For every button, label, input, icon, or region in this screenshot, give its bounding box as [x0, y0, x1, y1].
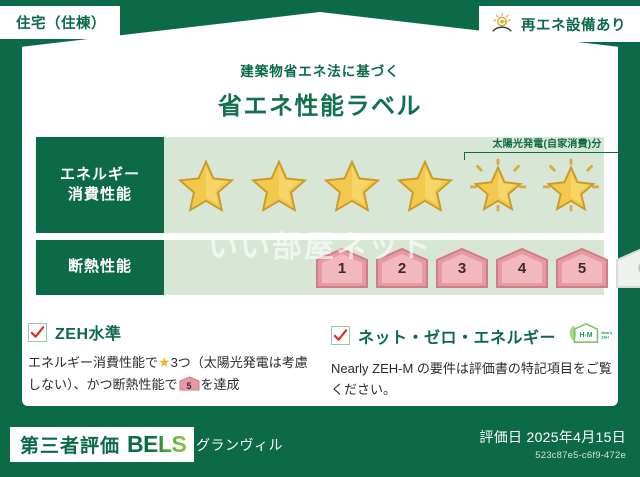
criterion-zeh-standard: ZEH水準 エネルギー消費性能で★3つ（太陽光発電は考慮しない）、かつ断熱性能で…	[28, 320, 309, 400]
star-icon-sparkle	[543, 158, 599, 212]
insulation-grade-4: 4	[494, 247, 550, 289]
evaluation-id: 523c87e5-c6f9-472e	[479, 450, 626, 461]
inline-star-icon: ★	[158, 354, 171, 370]
insulation-grades-panel: 1 2 3	[164, 240, 604, 295]
renewable-energy-badge: 再エネ設備あり	[479, 6, 640, 42]
star-6-solar	[537, 158, 604, 212]
star-1	[172, 158, 239, 212]
bels-wordmark: BELS	[127, 431, 186, 458]
insulation-grade-6: 6	[614, 247, 640, 289]
performance-table: エネルギー 消費性能 太陽光発電(自家消費)分	[36, 137, 604, 295]
criterion-net-zero-energy: ネット・ゼロ・エネルギー H-M Nearly ZEH Nearly ZEH-M…	[331, 320, 612, 400]
energy-label-line1: エネルギー	[60, 165, 140, 185]
star-icon	[324, 158, 380, 212]
star-icon-sparkle	[470, 158, 526, 212]
checkbox-net-zero-energy[interactable]	[331, 326, 350, 345]
evaluation-date: 評価日 2025年4月15日	[479, 427, 626, 447]
criterion-zeh-title: ZEH水準	[55, 320, 122, 344]
solar-annotation-bracket	[464, 152, 630, 160]
criterion-nze-description: Nearly ZEH-M の要件は評価書の特記項目をご覧ください。	[331, 358, 612, 400]
star-4	[391, 158, 458, 212]
zeh-m-logo: H-M Nearly ZEH	[564, 320, 612, 351]
property-name: グランヴィル	[196, 435, 283, 455]
evaluation-info: 評価日 2025年4月15日 523c87e5-c6f9-472e	[479, 427, 626, 461]
criterion-nze-title: ネット・ゼロ・エネルギー	[358, 324, 556, 348]
inline-grade-value: 5	[179, 379, 200, 394]
insulation-grade-list: 1 2 3	[164, 240, 604, 295]
svg-text:ZEH: ZEH	[601, 335, 609, 339]
insulation-performance-label: 断熱性能	[36, 240, 164, 295]
star-icon	[178, 158, 234, 212]
bels-badge: 第三者評価 BELS	[10, 427, 194, 462]
insulation-grade-1: 1	[314, 247, 370, 289]
insulation-grade-4-value: 4	[494, 260, 550, 277]
criterion-zeh-header: ZEH水準	[28, 320, 309, 344]
insulation-grade-6-value: 6	[614, 260, 640, 277]
star-3	[318, 158, 385, 212]
zeh-m-logo-svg: H-M Nearly ZEH	[566, 320, 612, 346]
insulation-grade-5-value: 5	[554, 260, 610, 277]
solar-annotation: 太陽光発電(自家消費)分	[452, 135, 640, 160]
energy-performance-label: エネルギー 消費性能	[36, 137, 164, 233]
energy-performance-label: 住宅（住棟） 再エネ設備あり 建築物省エネ法に基づく 省エネ性能ラベル いい部屋…	[0, 0, 640, 477]
sun-icon-svg	[489, 11, 515, 37]
energy-performance-row: エネルギー 消費性能 太陽光発電(自家消費)分	[36, 137, 604, 233]
check-icon	[333, 328, 348, 343]
criterion-nze-header: ネット・ゼロ・エネルギー H-M Nearly ZEH	[331, 320, 612, 351]
energy-label-line2: 消費性能	[68, 185, 132, 205]
insulation-grade-3: 3	[434, 247, 490, 289]
label-subtitle: 建築物省エネ法に基づく	[0, 60, 640, 80]
inline-grade-badge: 5	[179, 376, 200, 391]
solar-annotation-label: 太陽光発電(自家消費)分	[452, 135, 640, 150]
insulation-performance-row: 断熱性能 1 2	[36, 240, 604, 295]
insulation-grade-5: 5	[554, 247, 610, 289]
criteria-section: ZEH水準 エネルギー消費性能で★3つ（太陽光発電は考慮しない）、かつ断熱性能で…	[28, 320, 612, 400]
label-heading: 建築物省エネ法に基づく 省エネ性能ラベル	[0, 60, 640, 121]
criterion-zeh-text-part1: エネルギー消費性能で	[28, 355, 158, 370]
label-footer: 第三者評価 BELS グランヴィル 評価日 2025年4月15日 523c87e…	[0, 415, 640, 477]
energy-stars-panel: 太陽光発電(自家消費)分	[164, 137, 604, 233]
insulation-grade-3-value: 3	[434, 260, 490, 277]
check-icon	[30, 325, 45, 340]
page-title: 省エネ性能ラベル	[0, 86, 640, 121]
criterion-zeh-description: エネルギー消費性能で★3つ（太陽光発電は考慮しない）、かつ断熱性能で 5 を達成	[28, 351, 309, 395]
sun-icon	[489, 11, 515, 37]
criterion-zeh-text-part3: を達成	[201, 377, 240, 392]
checkbox-zeh-standard[interactable]	[28, 323, 47, 342]
third-party-evaluation-label: 第三者評価	[20, 431, 120, 458]
renewable-energy-label: 再エネ設備あり	[521, 14, 626, 35]
star-5-solar	[464, 158, 531, 212]
star-2	[245, 158, 312, 212]
building-type-tag: 住宅（住棟）	[0, 6, 120, 39]
svg-text:Nearly: Nearly	[601, 331, 612, 335]
insulation-grade-2: 2	[374, 247, 430, 289]
insulation-label-text: 断熱性能	[68, 257, 132, 277]
svg-text:H-M: H-M	[579, 332, 592, 339]
star-icon	[397, 158, 453, 212]
insulation-grade-1-value: 1	[314, 260, 370, 277]
star-icon	[251, 158, 307, 212]
insulation-grade-2-value: 2	[374, 260, 430, 277]
